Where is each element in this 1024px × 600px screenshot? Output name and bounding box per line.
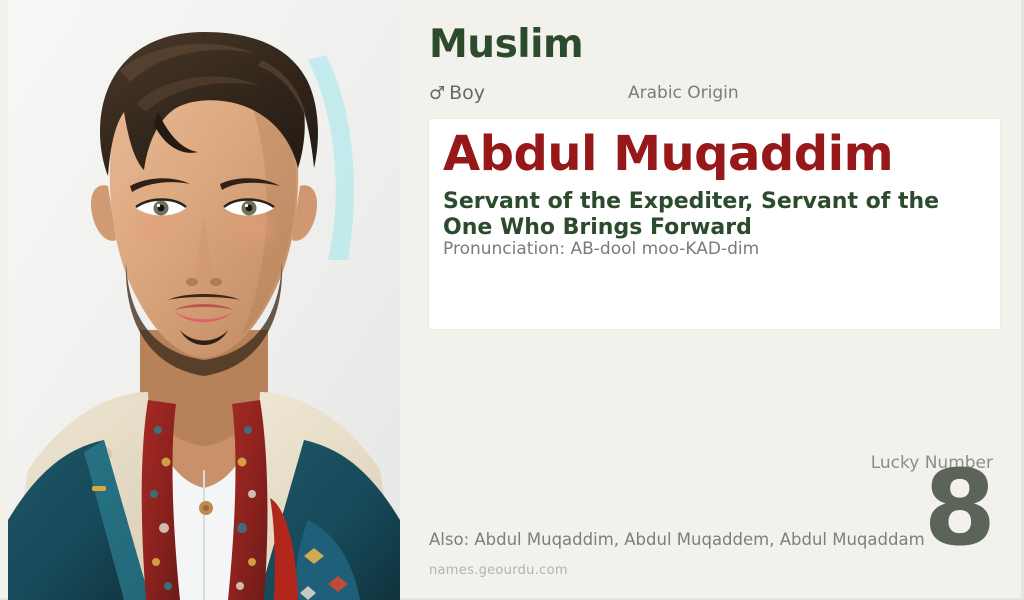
also-known-as: Also: Abdul Muqaddim, Abdul Muqaddem, Ab… — [429, 530, 925, 549]
origin-label: Arabic Origin — [628, 83, 739, 103]
name-portrait-photo — [8, 0, 400, 600]
name-card: Abdul Muqaddim Servant of the Expediter,… — [428, 118, 1001, 330]
mars-icon: ♂ — [429, 83, 445, 104]
site-watermark: names.geourdu.com — [429, 563, 568, 578]
poster-frame: Muslim ♂Boy Arabic Origin Abdul Muqaddim… — [0, 0, 1024, 600]
gender-text: Boy — [449, 82, 485, 104]
name-details-panel: Muslim ♂Boy Arabic Origin Abdul Muqaddim… — [400, 0, 1024, 600]
name-meaning: Servant of the Expediter, Servant of the… — [443, 189, 995, 241]
name-title: Abdul Muqaddim — [443, 128, 893, 182]
gender-label: ♂Boy — [429, 82, 485, 104]
religion-title: Muslim — [429, 25, 583, 64]
name-pronunciation: Pronunciation: AB-dool moo-KAD-dim — [443, 239, 759, 259]
lucky-number-value: 8 — [924, 456, 994, 560]
portrait-illustration — [8, 0, 400, 600]
name-meta-row: ♂Boy Arabic Origin — [429, 82, 989, 106]
